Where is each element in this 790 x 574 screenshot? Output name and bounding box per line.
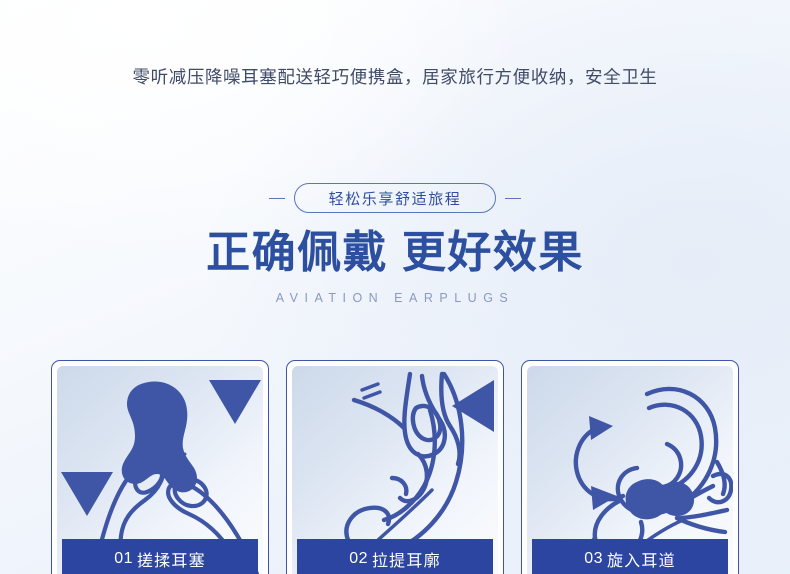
badge-pill: 轻松乐享舒适旅程 — [294, 183, 497, 213]
card-2-inner: 02 拉提耳廓 — [292, 366, 498, 574]
card-3-step: 03 — [584, 550, 603, 568]
instruction-card-1[interactable]: 01 搓揉耳塞 — [51, 360, 269, 574]
instruction-card-2[interactable]: 02 拉提耳廓 — [286, 360, 504, 574]
card-1-text: 搓揉耳塞 — [137, 547, 206, 571]
card-3-text: 旋入耳道 — [607, 547, 676, 571]
page-title: 正确佩戴 更好效果 — [0, 226, 790, 280]
card-1-inner: 01 搓揉耳塞 — [57, 366, 263, 574]
instruction-card-3[interactable]: 03 旋入耳道 — [521, 360, 739, 574]
instruction-card-row: 01 搓揉耳塞 — [51, 360, 739, 574]
card-3-label: 03 旋入耳道 — [532, 539, 728, 574]
rotate-arrow-icon — [589, 416, 617, 510]
card-2-label: 02 拉提耳廓 — [297, 539, 493, 574]
card-3-inner: 03 旋入耳道 — [527, 366, 733, 574]
badge-dash-right-icon — [505, 198, 521, 199]
earplug-solid — [626, 479, 695, 519]
top-caption: 零听减压降噪耳塞配送轻巧便携盒，居家旅行方便收纳，安全卫生 — [0, 64, 790, 90]
badge-dash-left-icon — [269, 198, 285, 199]
arrow-triangle — [452, 380, 494, 432]
card-2-step: 02 — [349, 550, 368, 568]
badge-label: 轻松乐享舒适旅程 — [329, 188, 462, 209]
card-1-label: 01 搓揉耳塞 — [62, 539, 258, 574]
page-subtitle: AVIATION EARPLUGS — [0, 289, 790, 307]
promo-page: 零听减压降噪耳塞配送轻巧便携盒，居家旅行方便收纳，安全卫生 轻松乐享舒适旅程 正… — [0, 0, 790, 574]
card-1-step: 01 — [114, 550, 133, 568]
badge-row: 轻松乐享舒适旅程 — [0, 181, 790, 215]
card-2-text: 拉提耳廓 — [372, 547, 441, 571]
